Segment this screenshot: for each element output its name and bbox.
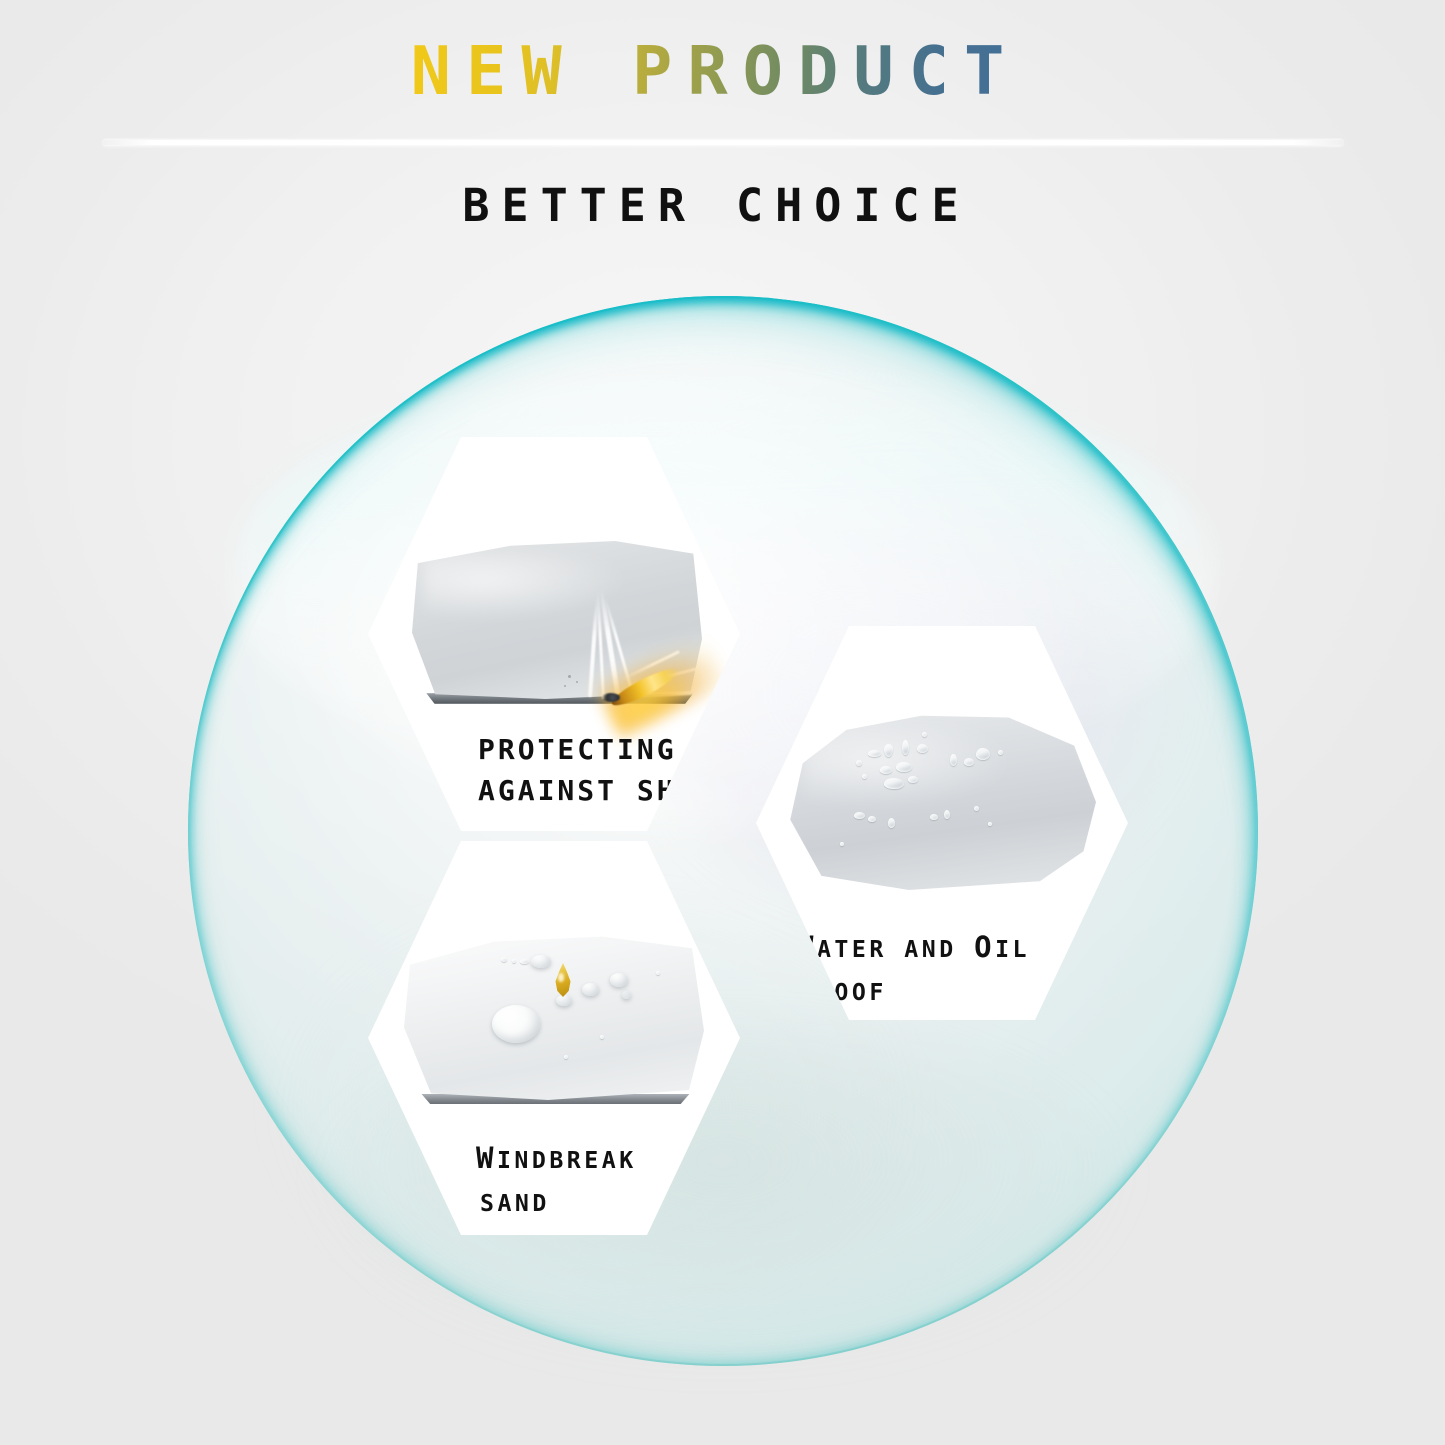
title-container: NEW PRODUCT [0,38,1445,105]
water-droplet [944,810,950,819]
water-droplet [902,740,909,755]
water-droplet [868,750,881,757]
large-water-droplet [492,1005,540,1043]
water-droplet [917,744,928,753]
water-droplet [531,955,551,968]
caption-line-1: WATER AND OIL [796,926,1030,969]
water-droplet [880,766,892,774]
water-droplet [622,991,631,999]
water-droplet [976,748,990,760]
water-droplet [908,776,918,783]
lens-with-water-droplets-icon [784,714,1096,890]
water-droplet [964,758,974,766]
caption-line-1: WINDBREAK [476,1137,637,1180]
water-droplet [512,959,516,963]
water-droplet [520,959,529,964]
page-subtitle: BETTER CHOICE [462,183,982,228]
water-droplet [884,778,904,789]
water-droplet [656,971,660,975]
caption-rest: INDBREAK [497,1147,637,1174]
title-divider [103,140,1343,145]
lens-with-spark-impact-icon [412,541,702,699]
water-droplet [582,983,599,996]
lens-with-oil-droplet-icon [404,935,704,1100]
subtitle-container: BETTER CHOICE [0,183,1445,228]
water-droplet [930,814,938,820]
water-droplet [840,842,844,846]
water-droplet [974,806,979,811]
water-droplet [922,732,927,737]
caption-initial: W [476,1141,497,1175]
water-droplet [501,957,507,962]
water-droplet [896,762,912,772]
lens-sheen [424,554,627,620]
water-droplet [888,818,895,828]
water-droplet [556,995,572,1006]
page-title: NEW PRODUCT [411,38,1035,105]
water-droplet [998,750,1003,755]
water-droplet [950,754,957,766]
lens-surface [404,935,704,1100]
caption-rest: ATER AND [817,936,974,963]
feature-caption-windbreak-sand: WINDBREAK SAND [476,1137,637,1223]
water-droplet [856,760,862,766]
water-droplet [564,1055,568,1059]
caption-line-2: SAND [476,1180,637,1223]
water-droplet [862,774,867,779]
water-droplet [988,822,992,826]
caption-rest: IL [995,936,1030,963]
lens-surface [412,541,702,699]
lens-surface [784,714,1096,890]
water-droplet [610,973,628,987]
water-droplet [868,816,876,822]
water-droplet [854,812,865,819]
product-feature-poster: NEW PRODUCT BETTER CHOICE [0,0,1445,1445]
caption-initial: O [974,930,995,964]
water-droplet [600,1035,604,1039]
caption-rest: SAND [480,1190,550,1217]
